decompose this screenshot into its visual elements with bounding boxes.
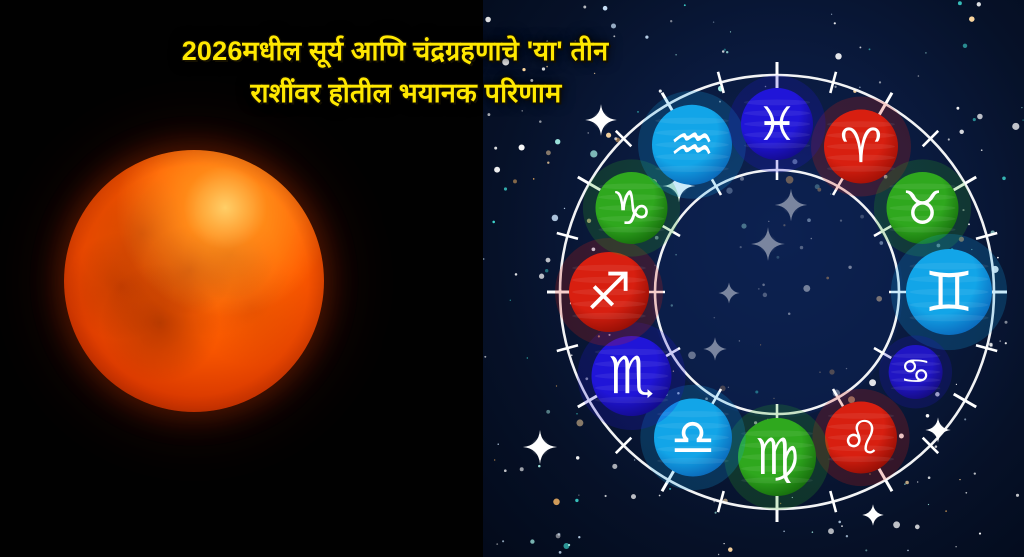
star <box>571 354 573 356</box>
star <box>502 540 504 542</box>
star <box>904 483 906 485</box>
star <box>1005 321 1008 324</box>
star <box>1002 177 1006 181</box>
star <box>915 525 920 530</box>
star <box>568 544 570 546</box>
star <box>659 90 662 93</box>
star <box>539 120 542 123</box>
star <box>578 536 580 538</box>
star <box>838 521 841 524</box>
star <box>563 543 569 549</box>
zodiac-glyph-libra: ♎ <box>671 409 716 467</box>
star <box>576 456 579 459</box>
zodiac-glyph-pisces: ♓ <box>756 97 797 151</box>
star <box>955 546 956 547</box>
star <box>879 81 881 83</box>
poster-canvas: ♈♉♊♋♌♍♎♏♐♑♒♓ 2026मधील सूर्य आणि चंद्रग्र… <box>0 0 1024 557</box>
star <box>588 132 589 133</box>
star <box>997 257 999 259</box>
zodiac-glyph-cancer: ♋ <box>900 352 931 392</box>
star <box>925 52 927 54</box>
star <box>492 221 495 224</box>
star <box>605 495 607 497</box>
star <box>578 495 579 496</box>
star <box>513 179 517 183</box>
star <box>539 274 544 279</box>
star <box>533 178 535 180</box>
blood-moon-image <box>64 150 324 412</box>
star <box>713 501 714 502</box>
sparkle-star <box>585 104 617 136</box>
star <box>546 40 548 42</box>
star <box>977 114 983 120</box>
zodiac-wheel-graphic: ♈♉♊♋♌♍♎♏♐♑♒♓ <box>483 0 1024 557</box>
star <box>575 40 577 42</box>
star <box>935 445 938 448</box>
star <box>659 495 661 497</box>
sparkle-star <box>523 430 557 464</box>
star <box>637 111 639 113</box>
star <box>564 208 565 209</box>
star <box>606 133 611 138</box>
star <box>846 535 848 537</box>
star <box>675 54 677 56</box>
star <box>724 49 726 51</box>
star <box>546 66 548 68</box>
star <box>556 533 561 538</box>
star <box>552 215 559 222</box>
star <box>559 551 562 554</box>
star <box>831 14 832 15</box>
star <box>907 550 909 552</box>
star <box>969 16 975 22</box>
star <box>498 444 499 445</box>
star <box>834 86 836 88</box>
star <box>718 554 719 555</box>
zodiac-glyph-virgo: ♍ <box>755 428 800 486</box>
star <box>485 17 491 23</box>
star <box>713 21 714 22</box>
star <box>494 459 495 460</box>
star <box>631 494 636 499</box>
star <box>612 464 617 469</box>
zodiac-glyph-capricorn: ♑ <box>611 181 652 235</box>
star <box>869 379 876 386</box>
star <box>594 73 595 74</box>
star <box>956 107 959 110</box>
star <box>999 340 1001 342</box>
star <box>494 167 500 173</box>
star <box>576 419 583 426</box>
star <box>730 31 731 32</box>
star <box>835 53 841 59</box>
star <box>542 67 545 70</box>
star <box>964 418 966 420</box>
star <box>670 20 672 22</box>
star <box>926 414 930 418</box>
star <box>522 68 525 71</box>
star <box>484 356 486 358</box>
star <box>959 479 960 480</box>
star <box>576 413 578 415</box>
star <box>611 23 616 28</box>
star <box>520 467 524 471</box>
blood-moon-panel <box>0 0 483 557</box>
star <box>945 510 947 512</box>
star <box>684 4 686 6</box>
star <box>917 481 918 482</box>
star <box>515 273 518 276</box>
star <box>669 488 671 490</box>
star <box>812 531 814 533</box>
zodiac-glyph-scorpio: ♏ <box>609 346 655 406</box>
star <box>1012 123 1019 130</box>
star <box>956 384 957 385</box>
star <box>973 118 976 121</box>
star <box>494 147 497 150</box>
star <box>522 110 523 111</box>
star <box>496 543 498 545</box>
star <box>869 48 871 50</box>
star <box>645 35 648 38</box>
star <box>990 344 993 347</box>
star <box>722 50 725 53</box>
star <box>527 357 528 358</box>
moon-limb-shading <box>64 150 324 412</box>
star <box>590 150 597 157</box>
zodiac-wheel-panel: ♈♉♊♋♌♍♎♏♐♑♒♓ <box>483 0 1024 557</box>
star <box>519 144 525 150</box>
star <box>496 56 499 59</box>
star <box>538 465 541 468</box>
star <box>613 35 615 37</box>
star <box>583 6 586 9</box>
star <box>1021 107 1022 108</box>
zodiac-glyph-leo: ♌ <box>840 411 881 465</box>
star <box>546 150 551 155</box>
star <box>979 533 981 535</box>
zodiac-glyph-aries: ♈ <box>840 119 883 174</box>
star <box>783 531 785 533</box>
star <box>965 492 967 494</box>
star <box>1016 494 1019 497</box>
star <box>556 385 557 386</box>
star <box>981 149 983 151</box>
star <box>859 46 861 48</box>
zodiac-sign-cancer[interactable]: ♋ <box>879 336 952 409</box>
star <box>834 22 836 24</box>
star <box>1005 342 1007 344</box>
star <box>545 269 548 272</box>
star <box>723 543 724 544</box>
star <box>974 472 976 474</box>
star <box>553 499 560 506</box>
outer-tick <box>954 394 977 407</box>
star <box>726 51 728 53</box>
star <box>487 113 490 116</box>
star <box>483 258 485 260</box>
star <box>959 130 963 134</box>
star <box>841 525 843 527</box>
inner-disc <box>651 166 903 418</box>
star <box>502 59 509 66</box>
star <box>715 512 717 514</box>
star <box>928 476 931 479</box>
zodiac-glyph-sagittarius: ♐ <box>586 262 632 322</box>
star <box>728 547 733 552</box>
zodiac-sign-aquarius[interactable]: ♒ <box>638 91 746 199</box>
zodiac-sign-pisces[interactable]: ♓ <box>728 75 825 172</box>
star <box>504 187 507 190</box>
star <box>918 75 920 77</box>
star <box>948 138 950 140</box>
star <box>828 528 834 534</box>
zodiac-sign-gemini[interactable]: ♊ <box>891 234 1007 350</box>
star <box>977 2 981 6</box>
star <box>865 549 867 551</box>
zodiac-glyph-aquarius: ♒ <box>669 115 715 175</box>
star <box>546 258 551 263</box>
star <box>634 459 635 460</box>
star <box>555 139 560 144</box>
star <box>603 6 608 11</box>
zodiac-sign-sagittarius[interactable]: ♐ <box>555 238 663 346</box>
zodiac-glyph-taurus: ♉ <box>902 181 943 235</box>
star <box>958 1 962 5</box>
star <box>510 300 511 301</box>
star <box>547 161 549 163</box>
star <box>546 410 550 414</box>
sparkle-star <box>862 504 883 525</box>
star <box>928 504 929 505</box>
star <box>575 499 578 502</box>
zodiac-glyph-gemini: ♊ <box>924 260 973 324</box>
star <box>504 469 507 472</box>
star <box>963 44 967 48</box>
star <box>905 481 909 485</box>
star <box>893 521 900 528</box>
star <box>530 79 533 82</box>
star <box>530 539 534 543</box>
star <box>859 87 860 88</box>
